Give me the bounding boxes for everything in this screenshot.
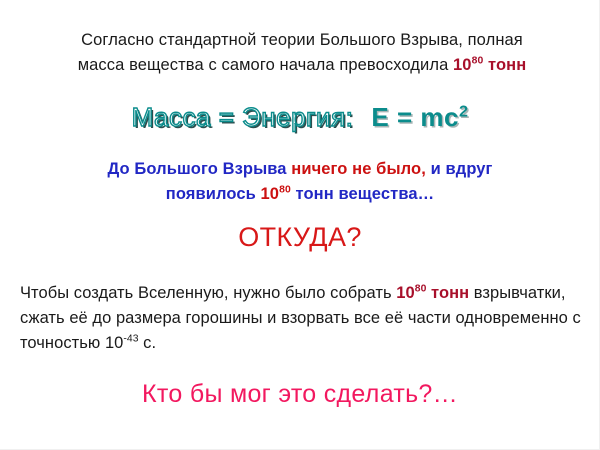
- intro-paragraph: Согласно стандартной теории Большого Взр…: [22, 28, 582, 78]
- formula-outlined-label: Масса = Энергия:: [132, 102, 354, 132]
- intro-line-1: Согласно стандартной теории Большого Взр…: [81, 31, 523, 49]
- intro-mass-unit: тонн: [483, 56, 526, 74]
- formula-emc2: E = mc2: [371, 102, 468, 132]
- before-bigbang-statement: До Большого Взрыва ничего не было, и вдр…: [30, 157, 570, 207]
- explain-mass-unit: тонн: [426, 284, 469, 302]
- statement-mass-value: 1080: [261, 185, 291, 203]
- intro-line-2-prefix: масса вещества с самого начала превосход…: [78, 56, 453, 74]
- formula-emc2-exponent: 2: [459, 102, 468, 120]
- formula-emc2-base: E = mc: [371, 102, 459, 132]
- explain-precision-exponent: -43: [123, 334, 138, 345]
- explanation-paragraph: Чтобы создать Вселенную, нужно было собр…: [20, 281, 586, 356]
- statement-blue-2: и вдруг: [426, 160, 493, 178]
- explain-mass-value: 1080 тонн: [396, 284, 469, 302]
- explain-precision-value: 10-43: [105, 334, 139, 352]
- explain-part-1: Чтобы создать Вселенную, нужно было собр…: [20, 284, 396, 302]
- explain-part-3: с.: [139, 334, 157, 352]
- statement-red-1: ничего не было,: [291, 160, 426, 178]
- where-from-question: ОТКУДА?: [0, 220, 600, 254]
- intro-mass-exponent: 80: [472, 56, 484, 67]
- final-question: Кто бы мог это сделать?…: [0, 378, 600, 410]
- statement-mass-base: 10: [261, 185, 280, 203]
- explain-mass-exponent: 80: [415, 284, 427, 295]
- statement-mass-exponent: 80: [279, 185, 291, 196]
- explain-mass-base: 10: [396, 284, 414, 302]
- statement-blue-4: тонн вещества…: [291, 185, 434, 203]
- mass-energy-formula: Масса = Энергия:E = mc2: [0, 101, 600, 133]
- statement-blue-1: До Большого Взрыва: [107, 160, 291, 178]
- slide-canvas: Согласно стандартной теории Большого Взр…: [0, 0, 600, 450]
- intro-mass-value: 1080 тонн: [453, 56, 526, 74]
- statement-blue-3: появилось: [166, 185, 261, 203]
- explain-precision-base: 10: [105, 334, 123, 352]
- intro-mass-base: 10: [453, 56, 472, 74]
